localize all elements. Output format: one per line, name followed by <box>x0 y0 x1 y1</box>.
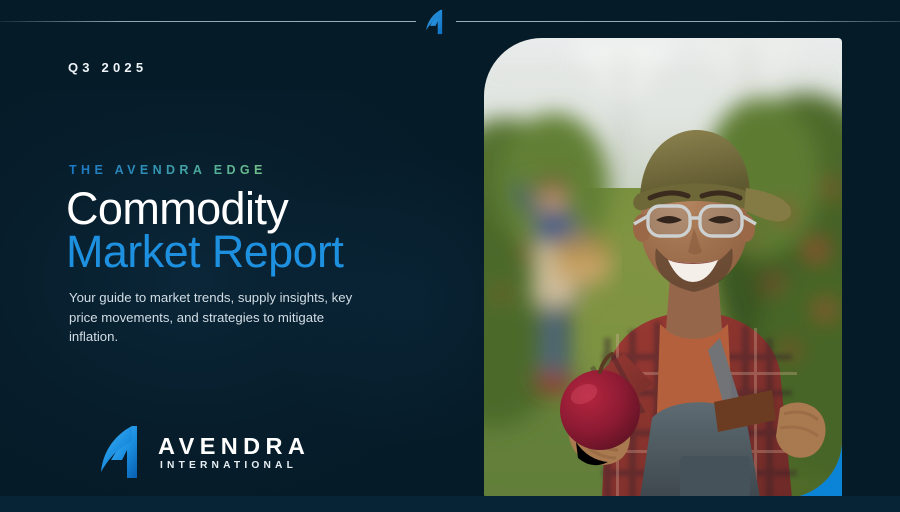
page-title-line-2: Market Report <box>66 231 343 272</box>
brand-tagline: INTERNATIONAL <box>160 459 310 472</box>
report-cover-page: Q3 2025 THE AVENDRA EDGE Commodity Marke… <box>0 0 900 512</box>
avendra-a-mark-icon <box>98 424 144 480</box>
series-eyebrow: THE AVENDRA EDGE <box>69 163 267 177</box>
page-title-line-1: Commodity <box>66 188 343 229</box>
brand-logo-text: AVENDRA INTERNATIONAL <box>158 433 310 472</box>
cover-photo <box>484 38 842 498</box>
header-divider-left <box>0 21 416 22</box>
quarter-label: Q3 2025 <box>68 60 147 75</box>
footer-band <box>0 496 900 512</box>
page-title: Commodity Market Report <box>66 188 343 272</box>
brand-name: AVENDRA <box>158 433 310 459</box>
avendra-a-mark-icon <box>418 6 452 38</box>
page-subtitle: Your guide to market trends, supply insi… <box>69 288 359 347</box>
header-divider-right <box>456 21 900 22</box>
brand-logo: AVENDRA INTERNATIONAL <box>98 424 310 480</box>
cover-photo-container <box>484 38 842 498</box>
